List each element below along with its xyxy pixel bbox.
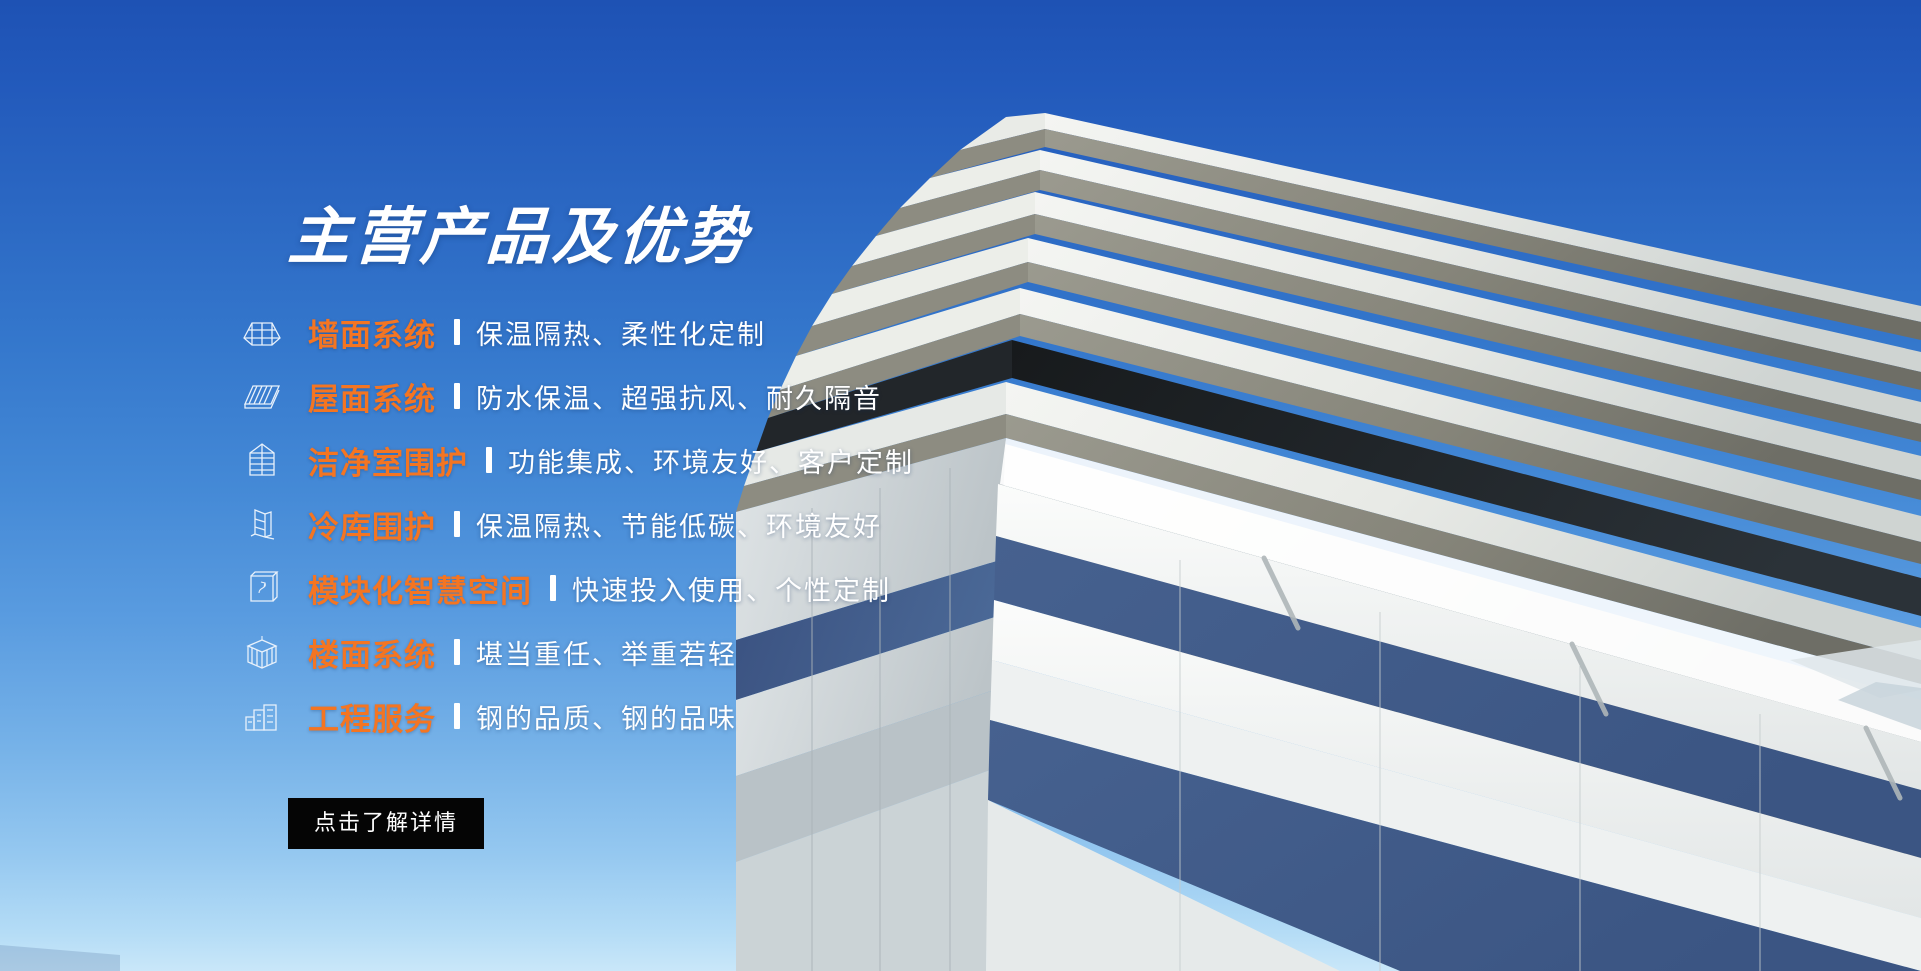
roof-panel-icon	[240, 374, 284, 418]
banner-content: 主营产品及优势 墙面系统 保温隔热、柔性化定制	[0, 0, 1100, 971]
list-item-desc: 保温隔热、柔性化定制	[476, 313, 766, 352]
list-item[interactable]: 楼面系统 堪当重任、举重若轻	[288, 620, 1108, 684]
cold-storage-icon	[240, 502, 284, 546]
floor-deck-icon	[240, 630, 284, 674]
list-item-desc: 防水保温、超强抗风、耐久隔音	[476, 377, 882, 416]
list-item[interactable]: 模块化智慧空间 快速投入使用、个性定制	[288, 556, 1108, 620]
learn-more-button[interactable]: 点击了解详情	[288, 798, 484, 849]
list-item-desc: 快速投入使用、个性定制	[572, 569, 891, 608]
modular-cube-icon	[240, 566, 284, 610]
separator	[486, 447, 492, 473]
separator	[454, 639, 460, 665]
hero-banner: 主营产品及优势 墙面系统 保温隔热、柔性化定制	[0, 0, 1921, 971]
list-item[interactable]: 屋面系统 防水保温、超强抗风、耐久隔音	[288, 364, 1108, 428]
list-item[interactable]: 墙面系统 保温隔热、柔性化定制	[288, 300, 1108, 364]
list-item[interactable]: 冷库围护 保温隔热、节能低碳、环境友好	[288, 492, 1108, 556]
list-item[interactable]: 工程服务 钢的品质、钢的品味	[288, 684, 1108, 748]
separator	[454, 383, 460, 409]
list-item-name: 楼面系统	[308, 630, 436, 675]
engineering-service-icon	[240, 694, 284, 738]
list-item-name: 模块化智慧空间	[308, 566, 532, 611]
list-item-name: 屋面系统	[308, 374, 436, 419]
list-item-desc: 保温隔热、节能低碳、环境友好	[476, 505, 882, 544]
product-list: 墙面系统 保温隔热、柔性化定制 屋面系统 防水保温、超强抗风、耐久隔音	[288, 300, 1108, 748]
list-item[interactable]: 洁净室围护 功能集成、环境友好、客户定制	[288, 428, 1108, 492]
list-item-name: 墙面系统	[308, 310, 436, 355]
separator	[550, 575, 556, 601]
page-title: 主营产品及优势	[286, 207, 751, 269]
list-item-name: 工程服务	[308, 694, 436, 739]
list-item-desc: 功能集成、环境友好、客户定制	[508, 441, 914, 480]
separator	[454, 319, 460, 345]
list-item-name: 冷库围护	[308, 502, 436, 547]
separator	[454, 511, 460, 537]
separator	[454, 703, 460, 729]
list-item-desc: 钢的品质、钢的品味	[476, 697, 737, 736]
cleanroom-building-icon	[240, 438, 284, 482]
list-item-desc: 堪当重任、举重若轻	[476, 633, 737, 672]
wall-panel-icon	[240, 310, 284, 354]
list-item-name: 洁净室围护	[308, 438, 468, 483]
